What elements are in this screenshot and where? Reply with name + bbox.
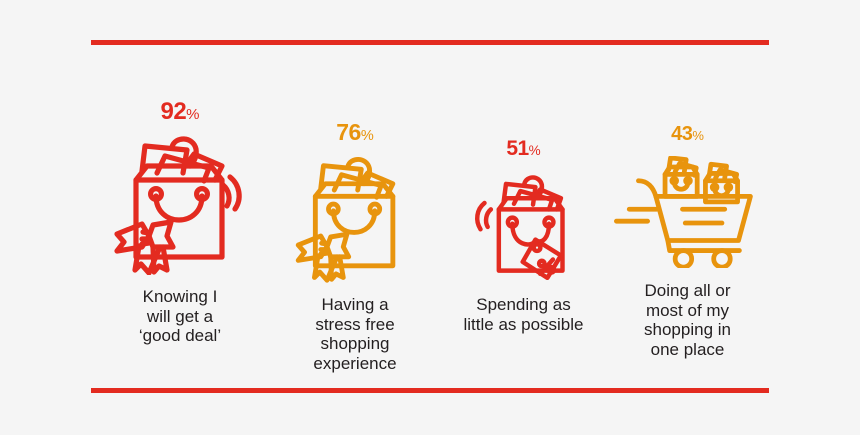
stat-percentage: 76%: [336, 121, 374, 144]
stat-value: 92: [160, 98, 186, 125]
stat-column: 92%: [91, 90, 269, 346]
stat-label: Spending as little as possible: [434, 295, 614, 334]
divider-bottom: [91, 388, 769, 393]
shopping-cart-icon: [614, 156, 762, 268]
stat-label: Doing all or most of my shopping in one …: [644, 281, 731, 359]
gift-bag-smile-icon: [291, 153, 419, 283]
stat-label: Knowing I will get a ‘good deal’: [139, 287, 221, 346]
percent-symbol: %: [361, 128, 374, 144]
stat-column: 76%: [269, 90, 441, 373]
gift-bag-smile-icon: [109, 133, 251, 275]
stat-value: 51: [506, 137, 528, 160]
stat-icon-wrap: [291, 153, 419, 283]
stats-row: 92%: [91, 90, 769, 380]
divider-top: [91, 40, 769, 45]
percent-symbol: %: [529, 143, 541, 158]
stat-value: 76: [336, 119, 361, 145]
stat-icon-wrap: [466, 168, 581, 281]
stat-percentage: 43%: [671, 124, 704, 144]
percent-symbol: %: [692, 128, 704, 143]
stat-icon-wrap: [614, 156, 762, 268]
stat-column: 51%: [441, 90, 606, 334]
percent-symbol: %: [186, 106, 199, 123]
infographic-panel: 92%: [0, 0, 860, 435]
stat-percentage: 51%: [506, 138, 540, 159]
stat-icon-wrap: [109, 133, 251, 275]
shopping-bag-price-tag-icon: [466, 168, 581, 281]
stat-value: 43: [671, 123, 692, 145]
stat-column: 43%: [606, 90, 769, 359]
stat-percentage: 92%: [160, 100, 199, 124]
stat-label: Having a stress free shopping experience: [313, 295, 396, 373]
